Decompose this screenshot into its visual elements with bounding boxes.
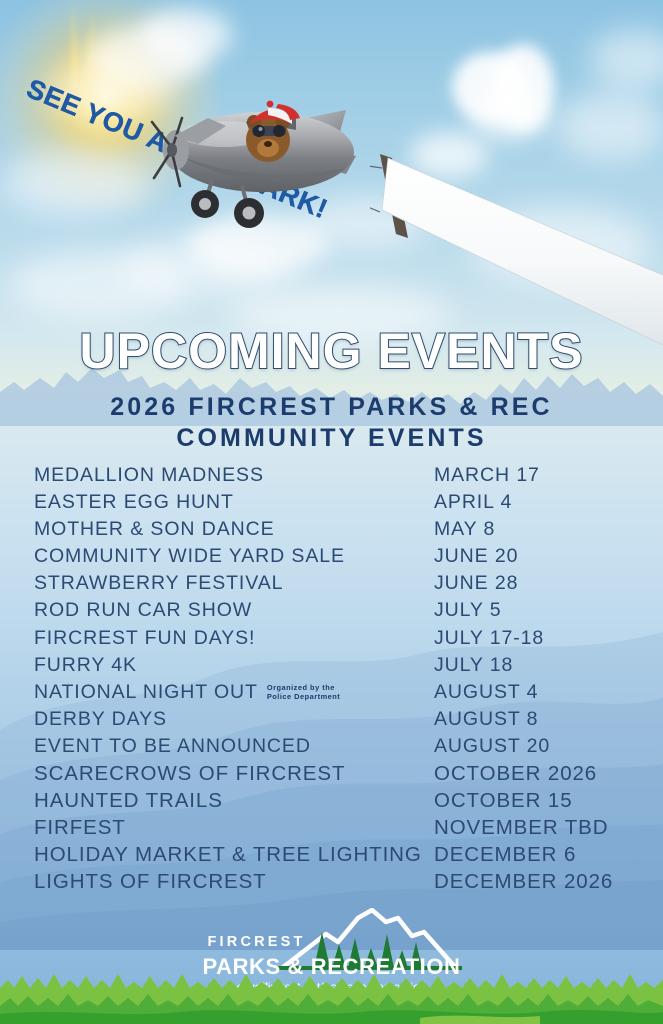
event-date: AUGUST 4 <box>434 681 538 704</box>
event-row: MEDALLION MADNESSMARCH 17 <box>34 464 630 491</box>
event-row: MOTHER & SON DANCEMAY 8 <box>34 518 630 545</box>
event-date: JULY 17-18 <box>434 627 544 650</box>
event-name: STRAWBERRY FESTIVAL <box>34 572 283 595</box>
event-row: FIRFESTNOVEMBER TBD <box>34 816 630 843</box>
event-name: COMMUNITY WIDE YARD SALE <box>34 545 345 568</box>
event-date: MARCH 17 <box>434 464 540 487</box>
cloud-shape <box>140 8 232 62</box>
event-date: NOVEMBER TBD <box>434 816 608 840</box>
event-name: EASTER EGG HUNT <box>34 491 234 514</box>
subtitle-line-1: 2026 FIRCREST PARKS & REC <box>0 392 663 423</box>
event-row: FURRY 4KJULY 18 <box>34 654 630 681</box>
event-name: NATIONAL NIGHT OUT <box>34 681 258 704</box>
cloud-shape <box>470 92 548 140</box>
event-date: DECEMBER 2026 <box>434 870 613 894</box>
event-name: MOTHER & SON DANCE <box>34 518 274 541</box>
event-name: FURRY 4K <box>34 654 137 677</box>
event-list: MEDALLION MADNESSMARCH 17EASTER EGG HUNT… <box>34 464 630 898</box>
event-date: MAY 8 <box>434 518 495 541</box>
event-name: HOLIDAY MARKET & TREE LIGHTING <box>34 843 422 867</box>
airplane-graphic <box>150 82 380 232</box>
event-row: COMMUNITY WIDE YARD SALEJUNE 20 <box>34 545 630 572</box>
page-title: UPCOMING EVENTS <box>0 326 663 376</box>
event-name: DERBY DAYS <box>34 708 167 731</box>
event-poster: SEE YOU AT THE PARK! <box>0 0 663 1024</box>
event-date: AUGUST 20 <box>434 735 550 758</box>
cloud-shape <box>556 92 663 160</box>
page-subtitle: 2026 FIRCREST PARKS & REC COMMUNITY EVEN… <box>0 392 663 453</box>
event-row: FIRCREST FUN DAYS!JULY 17-18 <box>34 627 630 654</box>
event-date: DECEMBER 6 <box>434 843 576 867</box>
event-name: FIRFEST <box>34 816 126 840</box>
event-row: NATIONAL NIGHT OUTOrganized by the Polic… <box>34 681 630 708</box>
event-date: OCTOBER 15 <box>434 789 573 813</box>
subtitle-line-2: COMMUNITY EVENTS <box>0 423 663 454</box>
event-row: EASTER EGG HUNTAPRIL 4 <box>34 491 630 518</box>
event-row: LIGHTS OF FIRCRESTDECEMBER 2026 <box>34 870 630 897</box>
logo-fircrest-text: FIRCREST <box>208 934 306 950</box>
event-row: EVENT TO BE ANNOUNCEDAUGUST 20 <box>34 735 630 762</box>
event-date: OCTOBER 2026 <box>434 762 597 786</box>
grass-foreground <box>0 962 663 1024</box>
event-row: HAUNTED TRAILSOCTOBER 15 <box>34 789 630 816</box>
event-name: HAUNTED TRAILS <box>34 789 223 813</box>
cloud-shape <box>0 150 150 216</box>
event-date: JULY 18 <box>434 654 513 677</box>
event-name: MEDALLION MADNESS <box>34 464 264 487</box>
event-name: LIGHTS OF FIRCREST <box>34 870 267 894</box>
cloud-shape <box>470 206 650 286</box>
event-name: SCARECROWS OF FIRCREST <box>34 762 345 786</box>
cloud-shape <box>410 132 488 178</box>
event-note: Organized by the Police Department <box>267 683 340 701</box>
event-row: ROD RUN CAR SHOWJULY 5 <box>34 599 630 626</box>
event-name: FIRCREST FUN DAYS! <box>34 627 255 650</box>
event-name: ROD RUN CAR SHOW <box>34 599 252 622</box>
event-date: AUGUST 8 <box>434 708 538 731</box>
event-date: APRIL 4 <box>434 491 512 514</box>
event-date: JUNE 28 <box>434 572 518 595</box>
event-row: DERBY DAYSAUGUST 8 <box>34 708 630 735</box>
event-row: SCARECROWS OF FIRCRESTOCTOBER 2026 <box>34 762 630 789</box>
event-row: STRAWBERRY FESTIVALJUNE 28 <box>34 572 630 599</box>
event-row: HOLIDAY MARKET & TREE LIGHTINGDECEMBER 6 <box>34 843 630 870</box>
cloud-shape <box>590 30 663 90</box>
event-date: JULY 5 <box>434 599 502 622</box>
cloud-shape <box>8 250 188 320</box>
event-name: EVENT TO BE ANNOUNCED <box>34 735 311 758</box>
event-date: JUNE 20 <box>434 545 518 568</box>
